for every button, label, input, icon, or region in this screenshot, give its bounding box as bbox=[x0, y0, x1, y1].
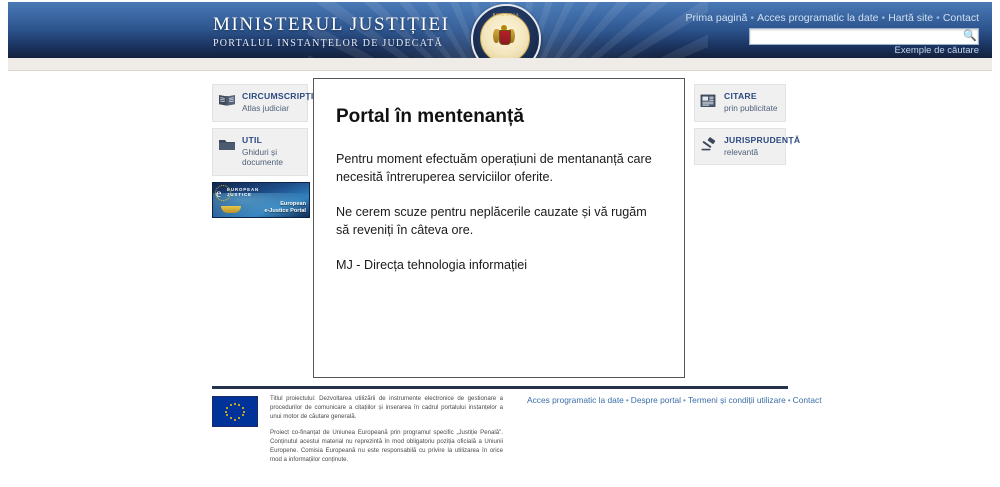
footer-link-separator: • bbox=[681, 395, 688, 405]
eu-flag-icon bbox=[212, 396, 258, 427]
newspaper-icon bbox=[700, 93, 718, 111]
nav-item-acces-programatic[interactable]: Acces programatic la date bbox=[757, 12, 878, 24]
footer-link-termeni-conditii[interactable]: Termeni și condiții utilizare bbox=[688, 395, 786, 405]
footer-project-text: Titlul proiectului: Dezvoltarea utilizăr… bbox=[270, 394, 503, 470]
sidebar-item-title: JURISPRUDENȚĂ bbox=[724, 135, 780, 146]
sidebar-item-title: UTIL bbox=[242, 135, 302, 146]
sidebar-item-text: JURISPRUDENȚĂ relevantă bbox=[724, 135, 780, 158]
sidebar-item-jurisprudenta[interactable]: JURISPRUDENȚĂ relevantă bbox=[694, 128, 786, 166]
nav-separator: • bbox=[933, 12, 943, 24]
sidebar-item-text: CITARE prin publicitate bbox=[724, 91, 780, 114]
book-atlas-icon bbox=[218, 93, 236, 111]
footer-link-separator: • bbox=[786, 395, 793, 405]
footer-divider bbox=[212, 386, 788, 389]
left-sidebar: CIRCUMSCRIPȚII Atlas judiciar UTIL Ghidu… bbox=[212, 84, 308, 218]
maintenance-paragraph-1: Pentru moment efectuăm operațiuni de men… bbox=[336, 150, 662, 186]
gavel-icon bbox=[700, 137, 718, 155]
footer-paragraph-1: Titlul proiectului: Dezvoltarea utilizăr… bbox=[270, 394, 503, 422]
sidebar-item-subtitle: prin publicitate bbox=[724, 103, 780, 114]
e-justice-logo-line2: JUSTICE bbox=[227, 192, 259, 197]
sidebar-item-subtitle: relevantă bbox=[724, 147, 780, 158]
e-justice-logo-letter: e bbox=[216, 187, 221, 199]
sidebar-item-title: CITARE bbox=[724, 91, 780, 102]
e-justice-name-line2: e-Justice Portal bbox=[264, 208, 306, 215]
nav-separator: • bbox=[879, 12, 889, 24]
e-justice-logo-text: EUROPEAN JUSTICE bbox=[227, 187, 259, 198]
search-examples[interactable]: Exemple de căutare bbox=[895, 45, 980, 56]
maintenance-paragraph-2: Ne cerem scuze pentru neplăcerile cauzat… bbox=[336, 203, 662, 239]
nav-item-harta-site[interactable]: Hartă site bbox=[888, 12, 933, 24]
search-box[interactable]: 🔍 bbox=[749, 28, 979, 45]
sub-header-band bbox=[8, 58, 992, 71]
sidebar-item-circumscriptii[interactable]: CIRCUMSCRIPȚII Atlas judiciar bbox=[212, 84, 308, 122]
search-icon[interactable]: 🔍 bbox=[963, 30, 975, 43]
maintenance-signature: MJ - Direcța tehnologia informației bbox=[336, 256, 662, 274]
footer-links: Acces programatic la date•Despre portal•… bbox=[527, 395, 822, 405]
search-input[interactable] bbox=[753, 29, 957, 46]
coat-of-arms-emblem: ROMANIA MINISTERUL JUSTITIEI bbox=[471, 4, 537, 58]
e-justice-name-line1: European bbox=[264, 201, 306, 208]
sidebar-item-citare[interactable]: CITARE prin publicitate bbox=[694, 84, 786, 122]
e-justice-portal-banner[interactable]: e EUROPEAN JUSTICE European e-Justice Po… bbox=[212, 182, 310, 218]
site-branding: MINISTERUL JUSTIȚIEI PORTALUL INSTANȚELO… bbox=[213, 14, 450, 51]
footer-link-despre-portal[interactable]: Despre portal bbox=[631, 395, 681, 405]
main-content-inner: Portal în mentenanță Pentru moment efect… bbox=[314, 79, 684, 274]
footer-paragraph-2: Proiect co-finanțat de Uniunea Europeană… bbox=[270, 428, 503, 465]
nav-item-prima-pagina[interactable]: Prima pagină bbox=[686, 12, 748, 24]
site-title: MINISTERUL JUSTIȚIEI bbox=[213, 14, 450, 35]
sidebar-item-text: CIRCUMSCRIPȚII Atlas judiciar bbox=[242, 91, 302, 114]
sidebar-item-subtitle: Atlas judiciar bbox=[242, 103, 302, 114]
scales-bowl-decoration bbox=[221, 206, 241, 213]
top-navigation: Prima pagină•Acces programatic la date•H… bbox=[686, 12, 979, 24]
sidebar-item-text: UTIL Ghiduri și documente bbox=[242, 135, 302, 168]
search-examples-link[interactable]: Exemple de căutare bbox=[895, 45, 980, 56]
footer-link-contact[interactable]: Contact bbox=[793, 395, 822, 405]
folder-icon bbox=[218, 137, 236, 155]
footer-link-acces-programatic[interactable]: Acces programatic la date bbox=[527, 395, 624, 405]
sidebar-item-util[interactable]: UTIL Ghiduri și documente bbox=[212, 128, 308, 176]
eagle-crest-icon bbox=[494, 25, 514, 51]
nav-item-contact[interactable]: Contact bbox=[943, 12, 979, 24]
sidebar-item-title: CIRCUMSCRIPȚII bbox=[242, 91, 302, 102]
sidebar-item-subtitle: Ghiduri și documente bbox=[242, 147, 302, 168]
page-title: Portal în mentenanță bbox=[336, 105, 662, 128]
right-sidebar: CITARE prin publicitate JURISPRUDENȚĂ re… bbox=[694, 84, 786, 171]
footer-link-separator: • bbox=[624, 395, 631, 405]
site-header: MINISTERUL JUSTIȚIEI PORTALUL INSTANȚELO… bbox=[8, 2, 992, 58]
site-subtitle: PORTALUL INSTANȚELOR DE JUDECATĂ bbox=[213, 37, 450, 51]
romania-seal-icon: ROMANIA MINISTERUL JUSTITIEI bbox=[471, 4, 541, 58]
seal-top-text: ROMANIA bbox=[473, 12, 539, 17]
e-justice-banner-name: European e-Justice Portal bbox=[264, 201, 306, 214]
nav-separator: • bbox=[747, 12, 757, 24]
main-content-panel: Portal în mentenanță Pentru moment efect… bbox=[313, 78, 685, 378]
eu-flag-stars bbox=[226, 403, 244, 421]
eagle-shield bbox=[499, 30, 511, 45]
